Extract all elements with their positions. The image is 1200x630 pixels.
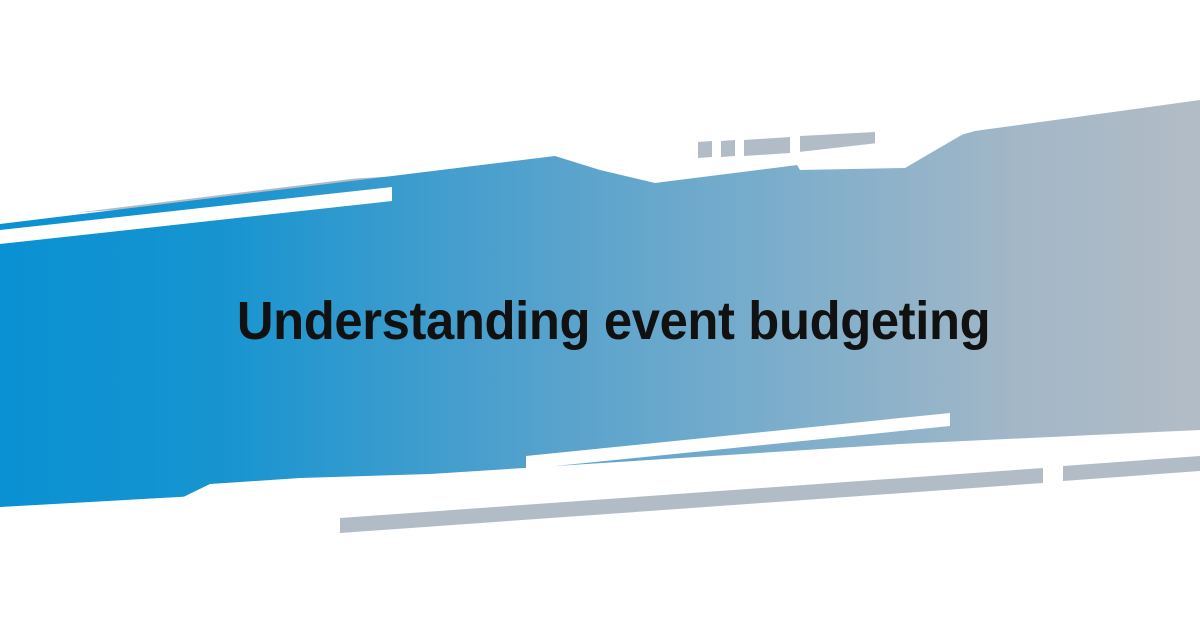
banner-decorative-graphic	[0, 0, 1200, 630]
banner-root: Understanding event budgeting	[0, 0, 1200, 630]
